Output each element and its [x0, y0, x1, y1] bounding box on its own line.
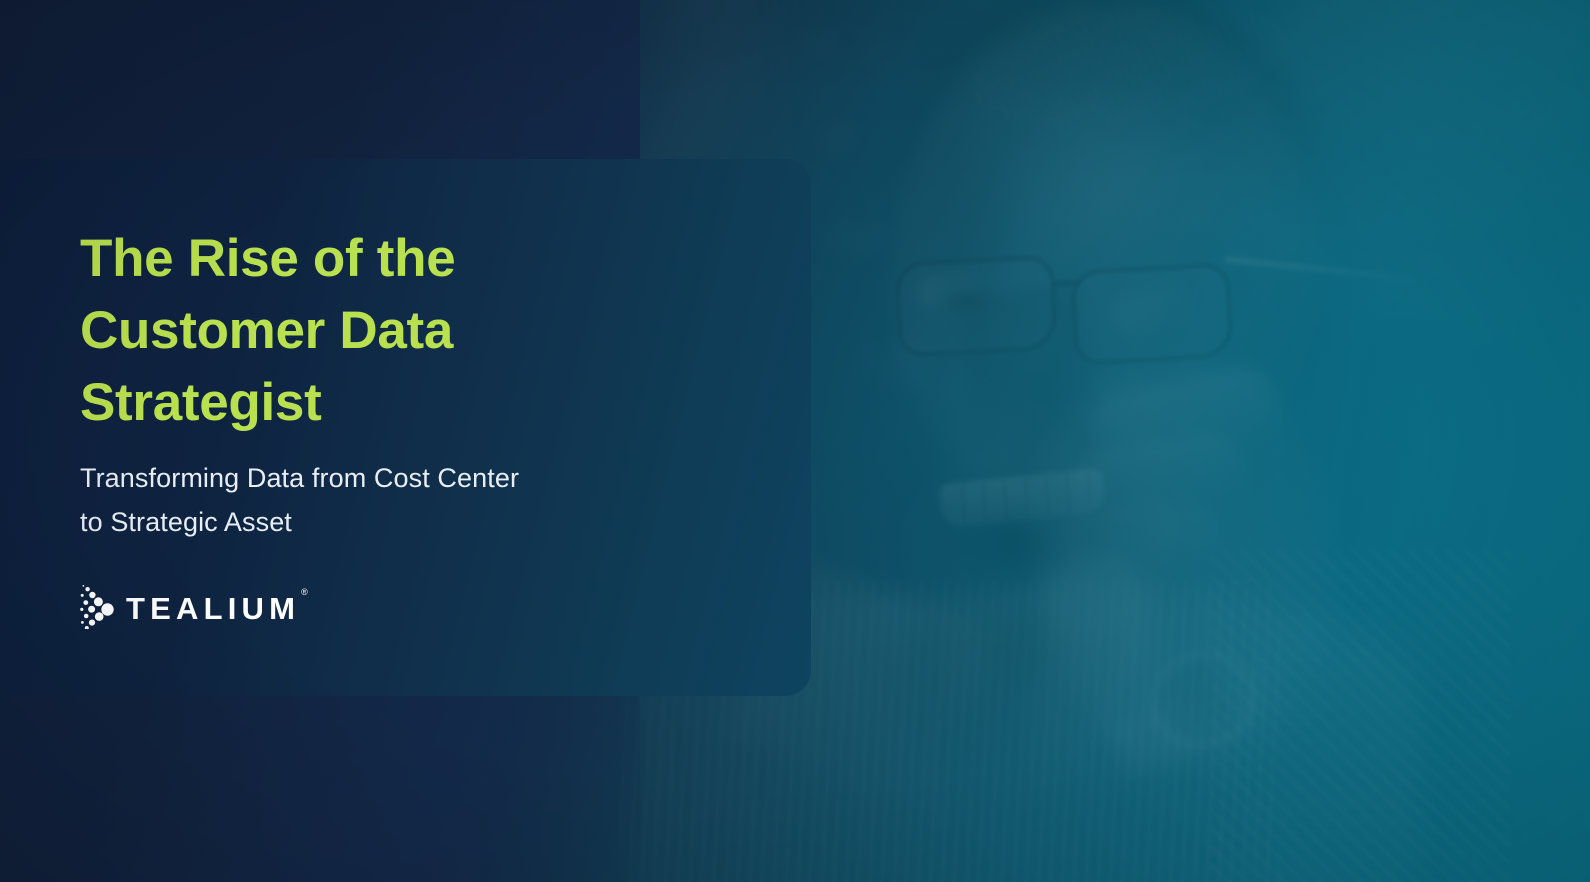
wordmark-text: TEALIUM: [126, 591, 300, 626]
title-card: The Rise of the Customer Data Strategist…: [0, 159, 811, 696]
registered-trademark-mark: ®: [301, 587, 308, 597]
tealium-logo: TEALIUM®: [80, 584, 307, 630]
tealium-dot-cluster-logomark: [80, 585, 114, 629]
slide-canvas: The Rise of the Customer Data Strategist…: [0, 0, 1590, 882]
title-card-content: The Rise of the Customer Data Strategist…: [80, 159, 780, 696]
page-subtitle: Transforming Data from Cost Center to St…: [80, 456, 700, 544]
tealium-wordmark: TEALIUM®: [126, 593, 307, 624]
page-title: The Rise of the Customer Data Strategist: [80, 223, 720, 439]
